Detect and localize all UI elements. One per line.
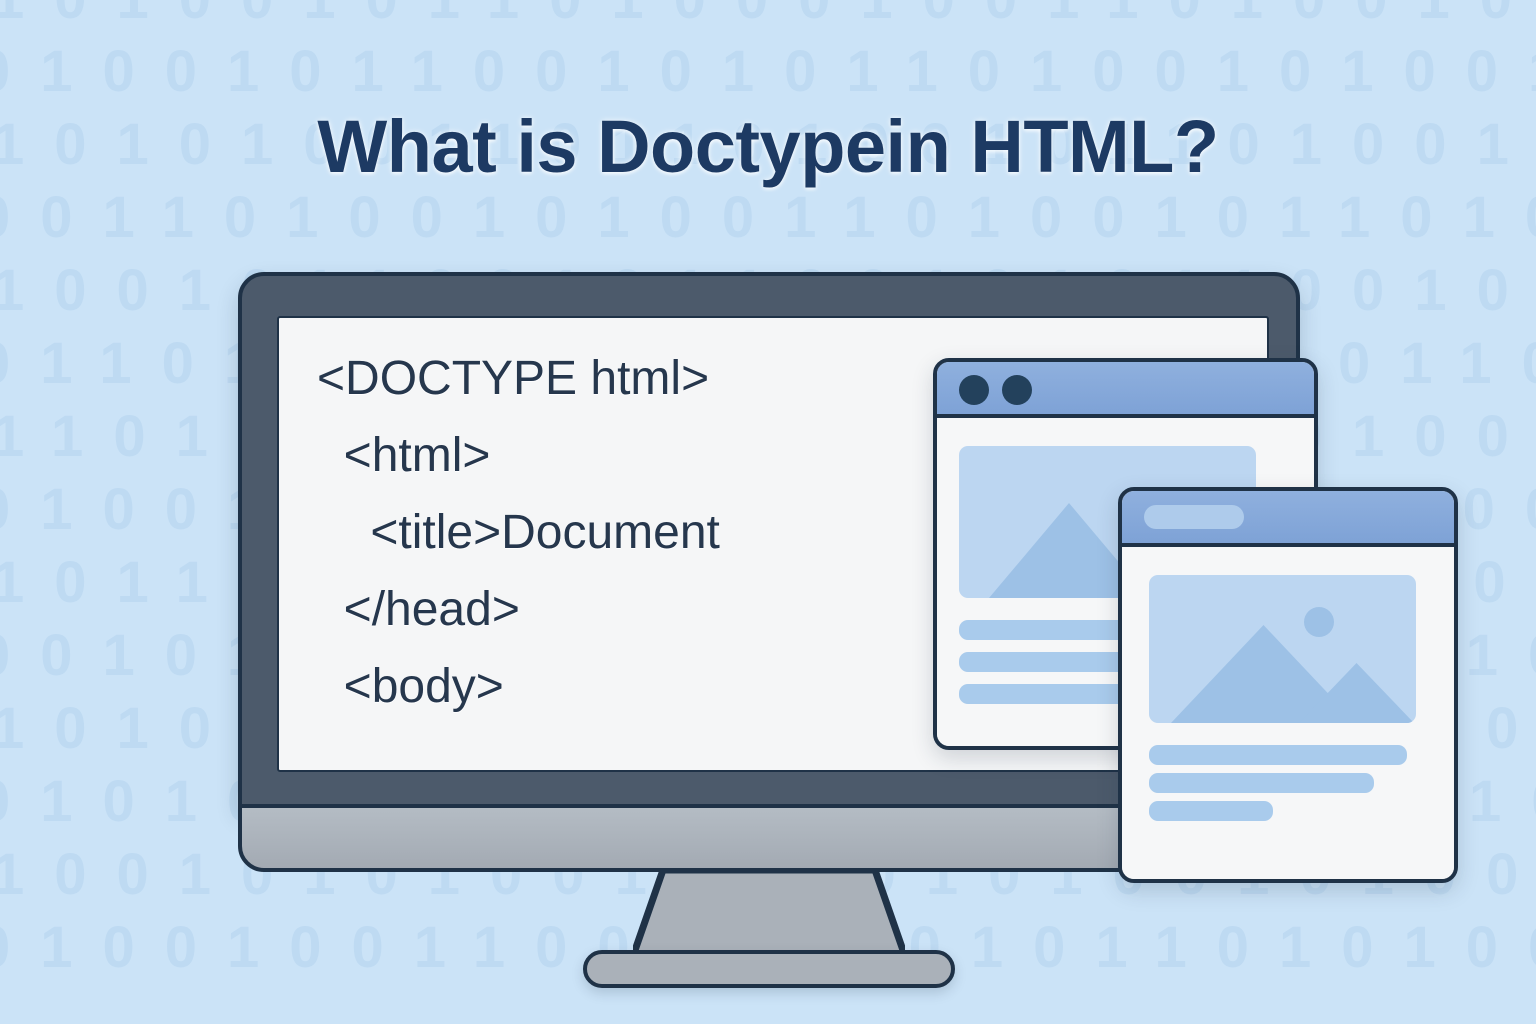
monitor-stand-neck (633, 870, 905, 956)
text-bar (1149, 773, 1374, 793)
binary-row: 00110100101001101001011010 (0, 189, 1536, 247)
sun-icon (1304, 607, 1334, 637)
image-placeholder-front (1149, 575, 1416, 723)
text-bar (1149, 745, 1407, 765)
text-bar (1149, 801, 1273, 821)
binary-row: 10100101101000100110100101 (0, 0, 1536, 28)
code-snippet: <DOCTYPE html> <html> <title>Document </… (317, 340, 720, 725)
monitor-stand-base (583, 950, 955, 988)
page-title: What is Doctypein HTML? (0, 104, 1536, 189)
browser-window-front[interactable] (1118, 487, 1458, 883)
browser-front-titlebar (1122, 491, 1454, 547)
traffic-light-dot-2[interactable] (1002, 375, 1032, 405)
url-bar-pill[interactable] (1144, 505, 1244, 529)
traffic-light-dot-1[interactable] (959, 375, 989, 405)
browser-front-content (1122, 547, 1454, 883)
binary-row: 01001011001010110100101001 (0, 43, 1536, 101)
browser-back-titlebar (937, 362, 1314, 418)
